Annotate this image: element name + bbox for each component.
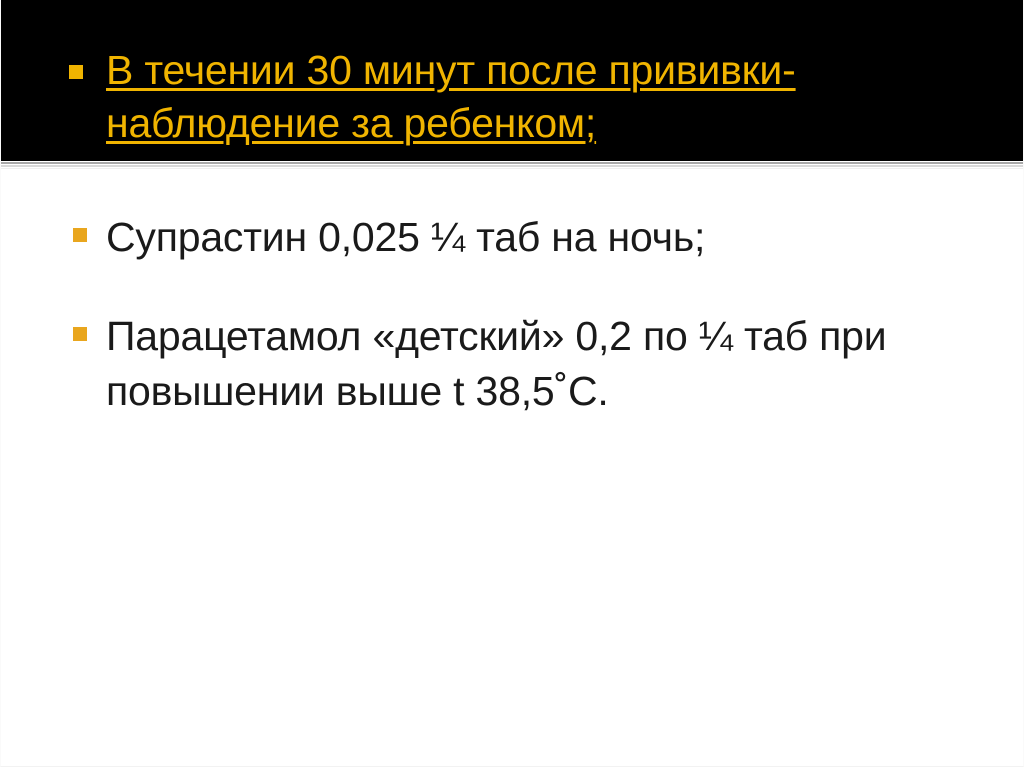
slide-title: В течении 30 минут после прививки- наблю… (106, 44, 995, 150)
bullet-item-text: Супрастин 0,025 ¼ таб на ночь; (106, 210, 995, 265)
slide-canvas: В течении 30 минут после прививки- наблю… (0, 0, 1024, 767)
title-band: В течении 30 минут после прививки- наблю… (1, 0, 1024, 161)
square-bullet-icon (73, 228, 87, 242)
slide-body: Супрастин 0,025 ¼ таб на ночь; Парацетам… (1, 176, 1024, 767)
divider-line-tertiary (1, 168, 1024, 169)
bullet-item-text: Парацетамол «детский» 0,2 по ¼ таб при п… (106, 309, 995, 419)
square-bullet-icon (69, 65, 83, 79)
divider-line-secondary (1, 165, 1024, 167)
divider-line-primary (1, 162, 1024, 164)
bullet-list-item: Супрастин 0,025 ¼ таб на ночь; (1, 210, 1024, 265)
square-bullet-icon (73, 327, 87, 341)
bullet-list-item: Парацетамол «детский» 0,2 по ¼ таб при п… (1, 309, 1024, 419)
title-bullet-row: В течении 30 минут после прививки- наблю… (69, 44, 995, 150)
